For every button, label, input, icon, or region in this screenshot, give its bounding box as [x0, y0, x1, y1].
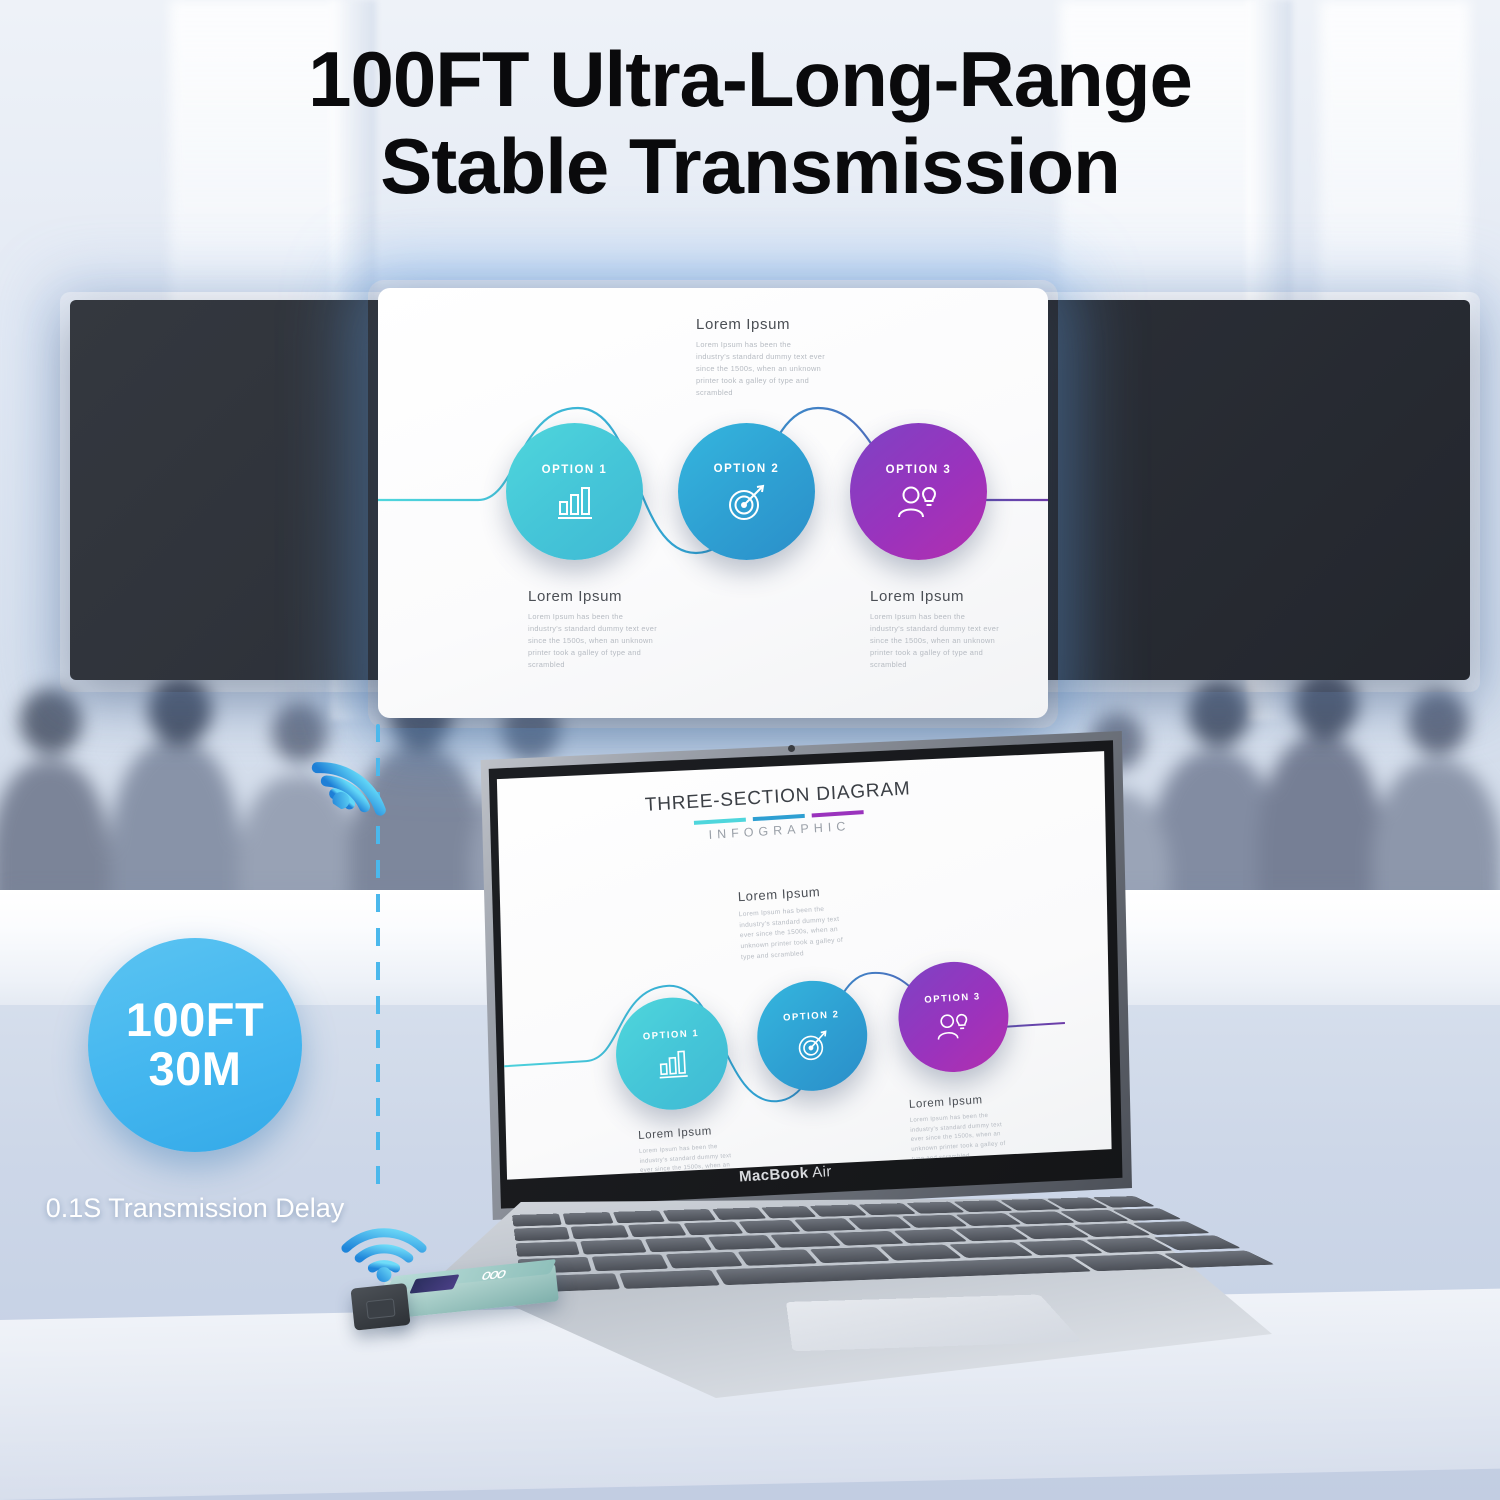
key	[708, 1235, 777, 1250]
monitor-slide: Lorem Ipsum Lorem Ipsum has been the ind…	[378, 288, 1048, 718]
laptop-brand-light: Air	[808, 1163, 832, 1181]
key	[770, 1233, 841, 1248]
monitor-caption-2-title: Lorem Ipsum	[870, 588, 1000, 605]
laptop-flow-line	[452, 728, 1132, 1220]
monitor-option-1: OPTION 1	[506, 423, 643, 560]
key	[894, 1229, 967, 1243]
key	[880, 1245, 963, 1261]
product-marketing-image: 100FT Ultra-Long-Range Stable Transmissi…	[0, 0, 1500, 1500]
monitor-caption-2-body: Lorem Ipsum has been the industry's stan…	[870, 611, 1000, 671]
key	[571, 1225, 629, 1239]
key	[810, 1205, 867, 1217]
monitor-caption-1-body: Lorem Ipsum has been the industry's stan…	[528, 611, 658, 671]
key	[738, 1249, 818, 1265]
monitor-option-2: OPTION 2	[678, 423, 815, 560]
monitor-option-3-label: OPTION 3	[886, 464, 952, 476]
key	[563, 1212, 614, 1225]
monitor-option-1-label: OPTION 1	[542, 464, 608, 476]
key	[761, 1206, 817, 1218]
laptop-caption-2: Lorem Ipsum Lorem Ipsum has been the ind…	[909, 1093, 1012, 1166]
key	[613, 1211, 665, 1224]
key	[512, 1214, 562, 1227]
delay-caption: 0.1S Transmission Delay	[40, 1192, 350, 1225]
headline-line-2: Stable Transmission	[0, 123, 1500, 210]
key	[739, 1220, 801, 1234]
dongle-connector	[366, 1298, 396, 1319]
key	[712, 1208, 767, 1220]
target-dart-icon	[727, 483, 767, 521]
bar-chart-icon	[555, 484, 595, 520]
key	[627, 1223, 686, 1237]
badge-line-2: 30M	[149, 1045, 242, 1094]
laptop-camera	[788, 745, 795, 752]
monitor-caption-1-title: Lorem Ipsum	[528, 588, 658, 605]
page-title: 100FT Ultra-Long-Range Stable Transmissi…	[0, 36, 1500, 211]
range-badge: 100FT 30M	[88, 938, 302, 1152]
wifi-signal-icon-upper	[312, 692, 432, 822]
key	[619, 1270, 721, 1289]
laptop: THREE-SECTION DIAGRAM INFOGRAPHIC Lorem …	[452, 728, 1132, 1228]
key	[516, 1241, 580, 1257]
laptop-option-2-label: OPTION 2	[783, 1009, 840, 1024]
key	[794, 1218, 857, 1231]
person-idea-icon	[898, 484, 940, 520]
bar-chart-icon	[655, 1047, 690, 1079]
key	[848, 1216, 912, 1229]
key	[809, 1247, 890, 1263]
headline-line-1: 100FT Ultra-Long-Range	[308, 35, 1192, 123]
key	[683, 1222, 744, 1236]
key	[645, 1237, 713, 1252]
laptop-option-1-label: OPTION 1	[643, 1027, 700, 1042]
target-dart-icon	[795, 1029, 830, 1062]
key	[514, 1227, 570, 1241]
monitor-option-3: OPTION 3	[850, 423, 987, 560]
key	[665, 1252, 743, 1269]
key	[858, 1203, 916, 1215]
monitor-option-2-label: OPTION 2	[714, 463, 780, 475]
key	[832, 1231, 904, 1246]
laptop-option-3-label: OPTION 3	[924, 991, 981, 1006]
key	[580, 1239, 646, 1254]
laptop-trackpad	[786, 1295, 1082, 1352]
key	[592, 1254, 668, 1271]
person-idea-icon	[936, 1011, 971, 1042]
monitor-caption-1: Lorem Ipsum Lorem Ipsum has been the ind…	[528, 588, 658, 671]
badge-line-1: 100FT	[126, 996, 264, 1045]
monitor-caption-2: Lorem Ipsum Lorem Ipsum has been the ind…	[870, 588, 1000, 671]
laptop-screen: THREE-SECTION DIAGRAM INFOGRAPHIC Lorem …	[452, 728, 1132, 1220]
key	[663, 1209, 716, 1222]
